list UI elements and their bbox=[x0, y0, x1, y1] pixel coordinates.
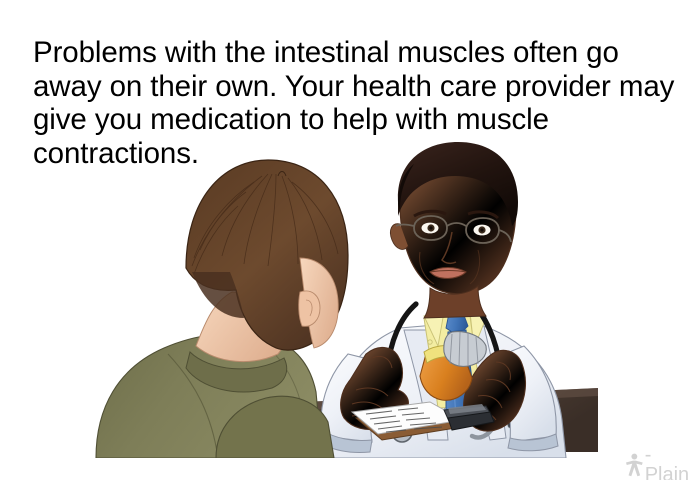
illustration bbox=[0, 140, 700, 458]
brand-logo-text: -Plain bbox=[645, 445, 695, 480]
person-figure-icon bbox=[625, 453, 644, 477]
page-root: Problems with the intestinal muscles oft… bbox=[0, 0, 700, 480]
illustration-svg bbox=[0, 140, 700, 458]
brand-logo: -Plain bbox=[625, 445, 695, 473]
